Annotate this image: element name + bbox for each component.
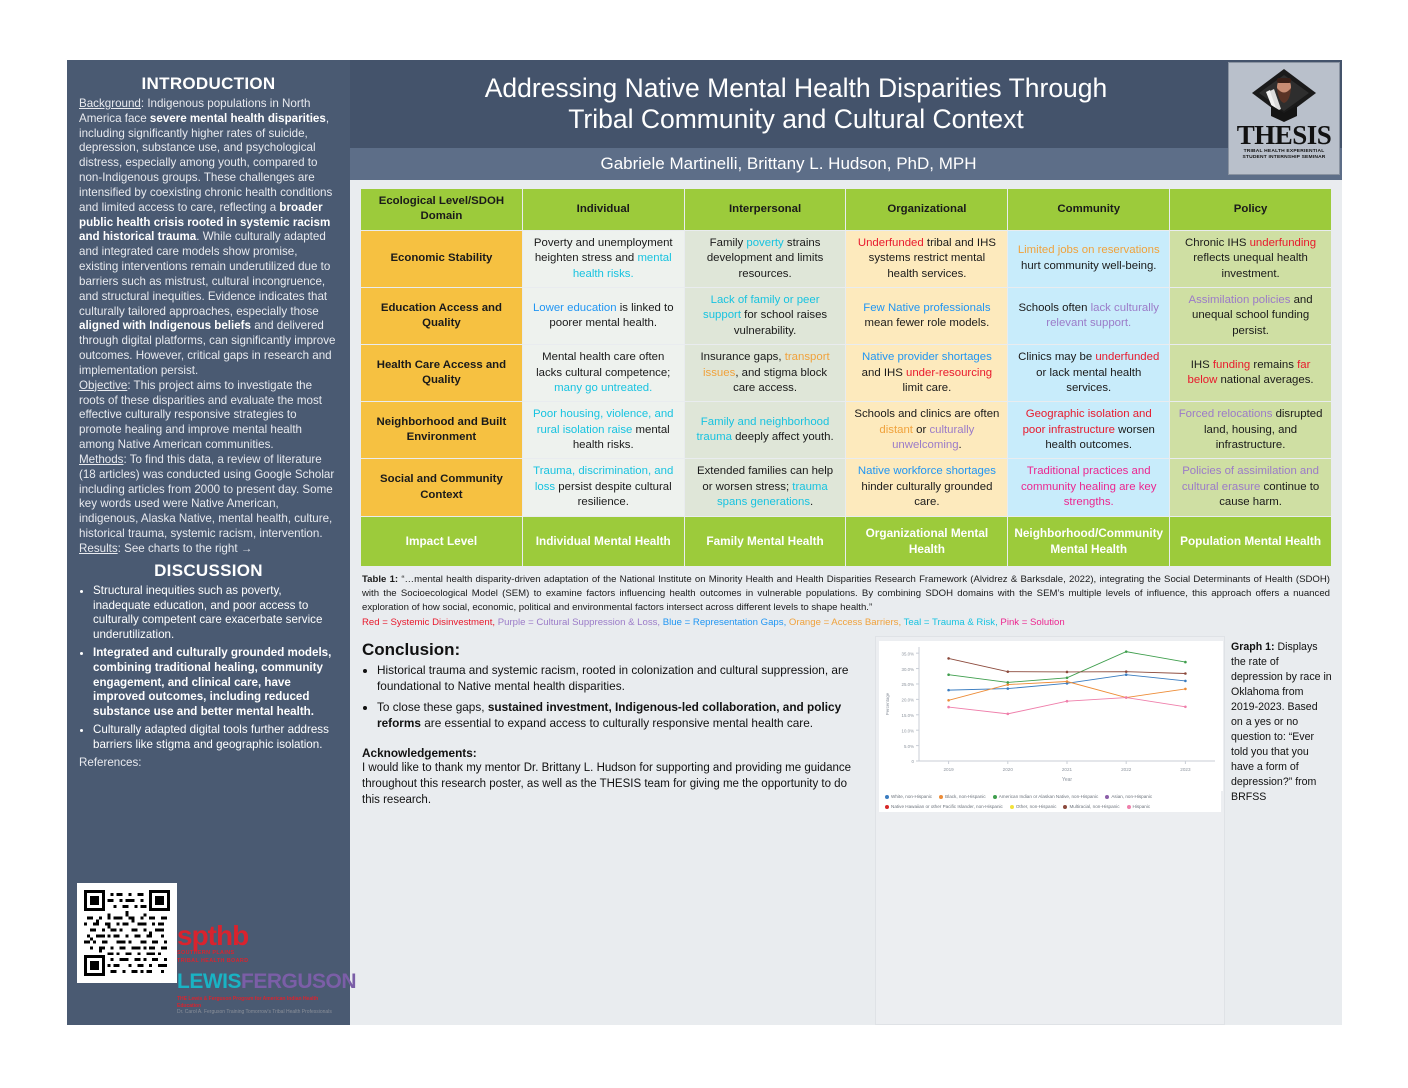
legend-swatch-icon [1105,795,1109,799]
conclusion-list: Historical trauma and systemic racism, r… [362,663,867,732]
table-caption-body: “…mental health disparity-driven adaptat… [362,574,1330,613]
thesis-logo: THESIS TRIBAL HEALTH EXPERIENTIAL STUDEN… [1228,62,1340,175]
cell-text-segment: many go untreated. [554,382,652,394]
conclusion-column: Conclusion: Historical trauma and system… [362,636,867,1025]
conclusion-heading: Conclusion: [362,640,867,660]
cell-text-segment: Assimilation policies [1189,294,1291,306]
table-body: Economic StabilityPoverty and unemployme… [361,231,1331,567]
table-cell: Chronic IHS underfunding reflects unequa… [1170,231,1331,287]
table-cell: Underfunded tribal and IHS systems restr… [846,231,1007,287]
thesis-wordmark: THESIS [1237,124,1332,147]
cell-text-segment: Lower education [533,302,617,314]
chart-legend-label: Other, non-Hispanic [1016,804,1057,810]
y-axis-tick-label: 10.0% [902,728,915,733]
partner-logos: spthb SOUTHERN PLAINS TRIBAL HEALTH BOAR… [177,923,342,1015]
impact-cell: Family Mental Health [685,517,846,567]
introduction-heading: INTRODUCTION [79,74,338,94]
chart-data-point [1007,687,1010,690]
color-legend: Red = Systemic Disinvestment, Purple = C… [362,616,1330,630]
table-cell: Forced relocations disrupted land, housi… [1170,402,1331,458]
graduation-cap-icon [1247,66,1321,124]
row-header: Social and Community Context [361,459,522,515]
spthb-logo: spthb [177,923,342,950]
table-cell: Poor housing, violence, and rural isolat… [523,402,684,458]
impact-level-row: Impact LevelIndividual Mental HealthFami… [361,517,1331,567]
impact-cell: Organizational Mental Health [846,517,1007,567]
chart-legend-item[interactable]: Native Hawaiian or other Pacific Islande… [885,804,1003,810]
title-line-1: Addressing Native Mental Health Disparit… [485,73,1108,103]
graph-caption: Graph 1: Displays the rate of depression… [1231,636,1332,1025]
introduction-body: Background: Indigenous populations in No… [79,97,338,557]
x-axis-label: Year [1062,777,1072,783]
cell-text-segment: funding [1213,359,1250,371]
lewis-sub-line-2: Dr. Carol A. Ferguson Training Tomorrow'… [177,1009,342,1015]
chart-legend-label: Multiracial, non-Hispanic [1069,804,1119,810]
table-cell: IHS funding remains far below national a… [1170,345,1331,401]
y-axis-label: Percentage [885,692,890,715]
list-item: To close these gaps, sustained investmen… [377,700,867,732]
table-row: Social and Community ContextTrauma, disc… [361,459,1331,515]
cell-text-segment: underfunded [1095,351,1159,363]
cell-text-segment: and IHS [862,367,906,379]
chart-data-point [1066,677,1069,680]
table-row: Health Care Access and QualityMental hea… [361,345,1331,401]
table-cell: Poverty and unemployment heighten stress… [523,231,684,287]
chart-data-point [1184,706,1187,709]
cell-text-segment: poverty [746,237,783,249]
chart-data-point [947,706,950,709]
cell-text-segment: hinder culturally grounded care. [861,481,992,508]
chart-legend-label: White, non-Hispanic [891,794,932,800]
chart-data-point [947,699,950,702]
cell-text-segment: mean fewer role models. [865,317,990,329]
table-cell: Geographic isolation and poor infrastruc… [1008,402,1169,458]
objective-label: Objective [79,379,127,392]
chart-plot-svg: 05.0%10.0%15.0%20.0%25.0%30.0%35.0%Perce… [879,641,1223,791]
chart-data-point [1066,700,1069,703]
cell-text-segment: underfunding [1250,237,1317,249]
legend-swatch-icon [1010,805,1014,809]
cell-text-segment: . [810,496,813,508]
cell-text-segment: . [959,439,962,451]
background-bold-1: severe mental health disparities [150,112,326,125]
chart-data-point [947,657,950,660]
lewis-ferguson-text: LEWISFERGUSON [177,970,356,994]
cell-text-segment: under-resourcing [906,367,992,379]
x-axis-tick-label: 2019 [943,767,954,772]
graph-caption-label: Graph 1: [1231,641,1275,653]
cell-text-segment: Underfunded [858,237,924,249]
qr-code-block[interactable] [77,883,177,983]
title-bar: Addressing Native Mental Health Disparit… [350,60,1342,148]
chart-legend-item[interactable]: White, non-Hispanic [885,794,932,800]
list-item: Historical trauma and systemic racism, r… [377,663,867,695]
cell-text-segment: or lack mental health services. [1036,367,1141,394]
chart-data-point [1066,671,1069,674]
page-title: Addressing Native Mental Health Disparit… [465,73,1228,136]
col-header-interpersonal: Interpersonal [685,189,846,230]
thesis-cap-svg [1247,66,1321,124]
poster-canvas: INTRODUCTION Background: Indigenous popu… [67,60,1342,1025]
cell-text-segment: Traditional practices and community heal… [1021,465,1157,508]
table-header: Ecological Level/SDOH Domain Individual … [361,189,1331,230]
table-cell: Clinics may be underfunded or lack menta… [1008,345,1169,401]
table-cell: Mental health care often lacks cultural … [523,345,684,401]
table-cell: Trauma, discrimination, and loss persist… [523,459,684,515]
list-item: Integrated and culturally grounded model… [93,646,338,720]
qr-code-icon[interactable] [77,883,177,983]
cell-text-segment: Native provider shortages [862,351,992,363]
chart-data-point [1184,680,1187,683]
title-line-2: Tribal Community and Cultural Context [568,104,1024,134]
table-cell: Limited jobs on reservations hurt commun… [1008,231,1169,287]
lewis-sub-line-1: THE Lewis & Ferguson Program for America… [177,996,342,1009]
cell-text-segment: Geographic [1026,408,1088,420]
background-text-3: . While culturally adapted and integrate… [79,230,330,317]
chart-data-point [1125,670,1128,673]
table-cell: Lack of family or peer support for schoo… [685,288,846,344]
chart-legend: White, non-HispanicBlack, non-HispanicAm… [879,791,1221,812]
table-cell: Lower education is linked to poorer ment… [523,288,684,344]
cell-text-segment: Schools often [1018,302,1090,314]
cell-text-segment: Schools and clinics are often [854,408,999,420]
chart-data-point [1125,696,1128,699]
legend-entry: Pink = Solution [1000,617,1064,628]
cell-text-segment: persist despite cultural resilience. [555,481,672,508]
chart-data-point [1184,672,1187,675]
y-axis-tick-label: 35.0% [902,651,915,656]
col-header-organizational: Organizational [846,189,1007,230]
chart-legend-label: Black, non-Hispanic [945,794,986,800]
chart-data-point [1184,688,1187,691]
table-cell: Extended families can help or worsen str… [685,459,846,515]
table-caption-label: Table 1: [362,574,398,585]
x-axis-tick-label: 2022 [1121,767,1132,772]
legend-entry: Purple = Cultural Suppression & Loss, [498,617,663,628]
table-cell: Native workforce shortages hinder cultur… [846,459,1007,515]
discussion-item-text: Culturally adapted digital tools further… [93,723,329,751]
list-item: Structural inequities such as poverty, i… [93,584,338,643]
chart-data-point [1125,650,1128,653]
x-axis-tick-label: 2023 [1180,767,1191,772]
background-label: Background [79,97,141,110]
row-header: Economic Stability [361,231,522,287]
spthb-logo-sub-2: TRIBAL HEALTH BOARD [177,958,342,964]
cell-text-segment: Chronic IHS [1185,237,1250,249]
impact-cell: Neighborhood/Community Mental Health [1008,517,1169,567]
table-row: Economic StabilityPoverty and unemployme… [361,231,1331,287]
table-cell: Native provider shortages and IHS under-… [846,345,1007,401]
table-cell: Family poverty strains development and l… [685,231,846,287]
thesis-tagline: TRIBAL HEALTH EXPERIENTIAL STUDENT INTER… [1242,149,1325,162]
graph-caption-body: Displays the rate of depression by race … [1231,641,1332,803]
chart-legend-item[interactable]: Black, non-Hispanic [939,794,986,800]
impact-cell: Impact Level [361,517,522,567]
row-header: Neighborhood and Built Environment [361,402,522,458]
legend-swatch-icon [1063,805,1067,809]
chart-data-point [1007,713,1010,716]
impact-cell: Individual Mental Health [523,517,684,567]
chart-data-point [1184,661,1187,664]
x-axis-tick-label: 2020 [1003,767,1014,772]
cell-text-segment: hurt community well-being. [1021,260,1156,272]
y-axis-tick-label: 30.0% [902,667,915,672]
bottom-section: Conclusion: Historical trauma and system… [350,630,1342,1025]
cell-text-segment: Mental health care often lacks cultural … [536,351,670,378]
table-cell: Few Native professionals mean fewer role… [846,288,1007,344]
table-cell: Assimilation policies and unequal school… [1170,288,1331,344]
legend-entry: Blue = Representation Gaps, [663,617,789,628]
chart-legend-label: Asian, non-Hispanic [1111,794,1152,800]
discussion-heading: DISCUSSION [79,561,338,581]
discussion-item-text: Structural inequities such as poverty, i… [93,584,322,641]
table-cell: Schools often lack culturally relevant s… [1008,288,1169,344]
table-cell: Policies of assimilation and cultural er… [1170,459,1331,515]
chart-legend-item[interactable]: Other, non-Hispanic [1010,804,1057,810]
ferguson-word: FERGUSON [241,970,356,993]
background-text-2: , including significantly higher rates o… [79,112,332,214]
cell-text-segment: Family [710,237,747,249]
y-axis-tick-label: 25.0% [902,682,915,687]
cell-text-segment: remains [1250,359,1297,371]
chart-data-point [1125,674,1128,677]
depression-rate-chart: 05.0%10.0%15.0%20.0%25.0%30.0%35.0%Perce… [875,636,1225,1025]
cell-text-segment: distant [879,424,913,436]
cell-text-segment: , and stigma block care access. [733,367,827,394]
cell-text-segment: Native workforce shortages [858,465,996,477]
chart-data-point [1007,670,1010,673]
y-axis-tick-label: 20.0% [902,698,915,703]
table-header-row: Ecological Level/SDOH Domain Individual … [361,189,1331,230]
chart-legend-label: Native Hawaiian or other Pacific Islande… [891,804,1003,810]
references-label: References: [79,756,338,771]
impact-cell: Population Mental Health [1170,517,1331,567]
main-content: Addressing Native Mental Health Disparit… [350,60,1342,1025]
thesis-tagline-1: TRIBAL HEALTH EXPERIENTIAL [1244,149,1325,154]
sdoh-matrix-table: Ecological Level/SDOH Domain Individual … [360,188,1332,567]
acknowledgements-body: I would like to thank my mentor Dr. Brit… [362,761,867,809]
lewis-ferguson-subtext: THE Lewis & Ferguson Program for America… [177,996,342,1015]
cell-text-segment: reflects unequal health investment. [1193,252,1308,279]
cell-text-segment: national averages. [1217,374,1313,386]
authors-bar: Gabriele Martinelli, Brittany L. Hudson,… [350,148,1342,180]
cell-text-segment: Forced relocations [1179,408,1273,420]
cell-text-segment: Clinics may be [1018,351,1095,363]
row-header: Health Care Access and Quality [361,345,522,401]
table-cell: Schools and clinics are often distant or… [846,402,1007,458]
col-header-individual: Individual [523,189,684,230]
chart-data-point [1007,681,1010,684]
discussion-list: Structural inequities such as poverty, i… [79,584,338,753]
table-cell: Traditional practices and community heal… [1008,459,1169,515]
col-header-community: Community [1008,189,1169,230]
sidebar: INTRODUCTION Background: Indigenous popu… [67,60,350,1025]
row-header: Education Access and Quality [361,288,522,344]
cell-text-segment: Few Native professionals [863,302,990,314]
lewis-word: LEWIS [177,970,241,993]
y-axis-tick-label: 15.0% [902,713,915,718]
chart-legend-item[interactable]: Asian, non-Hispanic [1105,794,1152,800]
table-caption: Table 1: “…mental health disparity-drive… [350,567,1342,630]
legend-entry: Red = Systemic Disinvestment, [362,617,498,628]
cell-text-segment: for school raises vulnerability. [734,309,827,336]
qr-code-svg [84,890,170,976]
chart-data-point [947,689,950,692]
chart-data-point [1066,680,1069,683]
list-item: Culturally adapted digital tools further… [93,723,338,753]
x-axis-tick-label: 2021 [1062,767,1073,772]
table-cell: Family and neighborhood trauma deeply af… [685,402,846,458]
cell-text-segment: IHS [1191,359,1213,371]
cell-text-segment: deeply affect youth. [732,431,834,443]
chart-legend-label: American Indian or Alaskan Native, non-H… [999,794,1099,800]
cell-text-segment: Limited jobs on reservations [1018,244,1160,256]
acknowledgements-heading: Acknowledgements: [362,746,867,760]
y-axis-tick-label: 5.0% [904,744,914,749]
legend-entry: Orange = Access Barriers, [789,617,904,628]
chart-legend-label: Hispanic [1133,804,1151,810]
chart-legend-item[interactable]: Hispanic [1127,804,1151,810]
col-header-policy: Policy [1170,189,1331,230]
results-label: Results [79,542,118,555]
cell-text-segment: Insurance gaps, [700,351,784,363]
background-bold-3: aligned with Indigenous beliefs [79,319,251,332]
cell-text-segment: limit care. [903,382,952,394]
matrix-table-wrap: Ecological Level/SDOH Domain Individual … [350,180,1342,567]
legend-swatch-icon [993,795,997,799]
legend-swatch-icon [1127,805,1131,809]
lewis-ferguson-logo: LEWISFERGUSON [177,970,342,994]
legend-entry: Teal = Trauma & Risk, [904,617,1001,628]
chart-data-point [947,674,950,677]
cell-text-segment: or [913,424,929,436]
legend-swatch-icon [939,795,943,799]
col-header-domain: Ecological Level/SDOH Domain [361,189,522,230]
conclusion-item-pre: To close these gaps, [377,700,488,714]
legend-swatch-icon [885,805,889,809]
table-row: Neighborhood and Built EnvironmentPoor h… [361,402,1331,458]
discussion-item-bold: Integrated and culturally grounded model… [93,646,331,718]
authors: Gabriele Martinelli, Brittany L. Hudson,… [600,154,976,174]
legend-swatch-icon [885,795,889,799]
conclusion-item-post: are essential to expand access to cultur… [421,716,813,730]
table-cell: Insurance gaps, transport issues, and st… [685,345,846,401]
thesis-tagline-2: STUDENT INTERNSHIP SEMINAR [1242,155,1325,160]
chart-column: 05.0%10.0%15.0%20.0%25.0%30.0%35.0%Perce… [875,636,1332,1025]
conclusion-item-text: Historical trauma and systemic racism, r… [377,663,848,693]
results-text: : See charts to the right → [118,542,253,555]
methods-label: Methods [79,453,123,466]
table-row: Education Access and QualityLower educat… [361,288,1331,344]
spthb-logo-sub-1: SOUTHERN PLAINS [177,950,342,956]
chart-legend-item[interactable]: Multiracial, non-Hispanic [1063,804,1119,810]
chart-legend-item[interactable]: American Indian or Alaskan Native, non-H… [993,794,1099,800]
